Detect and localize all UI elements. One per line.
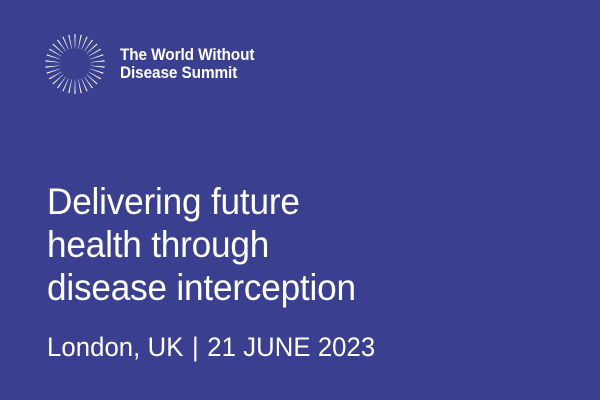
event-date: 21 JUNE 2023 — [207, 332, 375, 363]
detail-divider: | — [192, 332, 199, 363]
event-details: London, UK | 21 JUNE 2023 — [47, 332, 375, 363]
sunburst-logo-icon — [44, 33, 106, 95]
logo-wordmark: The World Without Disease Summit — [120, 46, 254, 83]
headline-line-2: health through — [47, 223, 356, 266]
headline-line-1: Delivering future — [47, 180, 356, 223]
logo-wordmark-line1: The World Without — [120, 46, 254, 64]
logo-lockup[interactable]: The World Without Disease Summit — [44, 33, 264, 95]
headline-line-3: disease interception — [47, 266, 356, 309]
logo-wordmark-line2: Disease Summit — [120, 64, 237, 82]
event-banner: The World Without Disease Summit Deliver… — [0, 0, 600, 400]
event-location: London, UK — [47, 332, 183, 363]
page-title: Delivering future health through disease… — [47, 180, 356, 309]
